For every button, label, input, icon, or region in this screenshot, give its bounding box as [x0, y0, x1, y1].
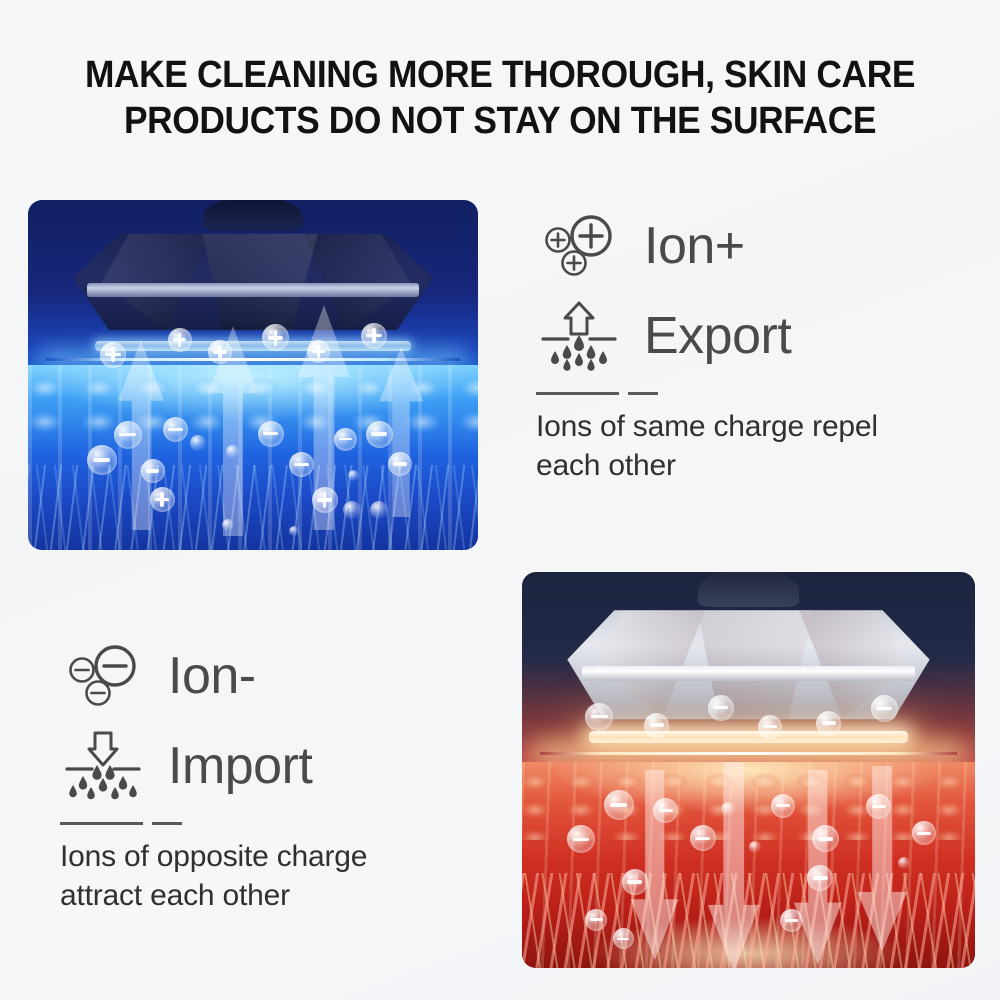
bubble	[348, 470, 359, 481]
ion-marker-negative	[780, 909, 803, 932]
minus-bar	[393, 462, 407, 465]
bubble	[222, 519, 234, 531]
minus-bar	[627, 880, 642, 883]
plus-bar-vertical	[317, 345, 320, 358]
ion-negative-label: Ion-	[168, 650, 256, 702]
bubble	[343, 501, 361, 519]
minus-bar	[93, 458, 110, 462]
red-import-illustration	[522, 572, 975, 968]
ion-marker-negative	[690, 825, 716, 851]
minus-bar	[590, 918, 603, 921]
ion-marker-positive	[361, 323, 387, 349]
bubble	[721, 802, 735, 816]
minus-bar	[813, 876, 828, 879]
divider-segment-long	[536, 392, 619, 395]
plus-bar-vertical	[274, 330, 278, 346]
bubble	[749, 841, 761, 853]
minus-bar	[294, 463, 309, 466]
plus-bar-vertical	[372, 328, 375, 343]
minus-bar	[263, 432, 278, 435]
minus-bar	[119, 433, 135, 437]
minus-bar	[339, 438, 352, 441]
ion-negative-icon	[60, 638, 146, 714]
ion-marker-positive	[208, 340, 232, 364]
export-arrow-up-droplets-icon	[536, 298, 622, 374]
minus-bar	[872, 805, 887, 808]
minus-bar	[650, 723, 665, 726]
minus-bar	[610, 803, 627, 807]
minus-bar	[591, 715, 607, 719]
minus-bar	[168, 428, 183, 431]
divider-segment-long	[60, 822, 143, 825]
export-caption: Ions of same charge repel each other	[536, 407, 966, 485]
ion-marker-negative	[289, 452, 314, 477]
ion-marker-negative	[871, 695, 898, 722]
infographic-page: MAKE CLEANING MORE THOROUGH, SKIN CARE P…	[0, 0, 1000, 1000]
ion-marker-negative	[585, 703, 613, 731]
import-caption: Ions of opposite charge attract each oth…	[60, 837, 490, 915]
export-row: Export	[536, 298, 966, 374]
ion-marker-negative	[866, 794, 891, 819]
bubble	[898, 857, 910, 869]
device-electrode-plate	[589, 731, 908, 743]
minus-bar	[617, 938, 629, 941]
ion-positive-label: Ion+	[644, 220, 745, 272]
plus-bar-vertical	[218, 345, 221, 359]
ion-marker-positive	[168, 328, 192, 352]
feature-block-import: Ion-	[60, 638, 490, 915]
ion-marker-negative	[816, 711, 841, 736]
bubble	[190, 435, 206, 451]
divider	[536, 392, 966, 395]
blue-export-illustration	[28, 200, 478, 550]
minus-bar	[763, 725, 777, 728]
ion-marker-positive	[100, 342, 126, 368]
bubble	[226, 445, 239, 458]
minus-bar	[876, 707, 892, 711]
ion-marker-positive	[150, 487, 175, 512]
plus-bar-vertical	[178, 333, 181, 347]
ion-marker-negative	[141, 459, 165, 483]
ion-positive-row: Ion+	[536, 208, 966, 284]
bubble	[289, 526, 299, 536]
feature-block-export: Ion+	[536, 208, 966, 485]
ion-marker-negative	[644, 713, 669, 738]
device-band	[582, 666, 915, 681]
plus-bar-vertical	[323, 492, 326, 507]
ion-negative-row: Ion-	[60, 638, 490, 714]
minus-bar	[659, 809, 674, 812]
ion-marker-negative	[585, 909, 607, 931]
minus-bar	[917, 832, 931, 835]
ion-marker-negative	[708, 695, 734, 721]
ion-marker-negative	[114, 421, 142, 449]
collagen-fibers	[28, 465, 478, 550]
import-label: Import	[168, 740, 312, 792]
electrode-glow-line	[540, 752, 957, 755]
ion-marker-negative	[87, 445, 117, 475]
bubble	[370, 501, 388, 519]
divider-segment-short	[628, 392, 658, 395]
ion-marker-negative	[334, 428, 357, 451]
minus-bar	[146, 469, 160, 472]
import-row: Import	[60, 728, 490, 804]
ion-marker-negative	[653, 798, 678, 823]
minus-bar	[785, 919, 798, 922]
device-band	[87, 283, 418, 296]
ion-marker-negative	[604, 790, 634, 820]
ion-marker-positive	[312, 487, 338, 513]
ion-marker-negative	[912, 821, 936, 845]
minus-bar	[713, 706, 728, 709]
minus-bar	[573, 838, 589, 842]
minus-bar	[695, 837, 710, 840]
ion-marker-negative	[771, 794, 795, 818]
page-title: MAKE CLEANING MORE THOROUGH, SKIN CARE P…	[35, 52, 965, 144]
ion-marker-negative	[622, 869, 648, 895]
ion-marker-negative	[366, 421, 393, 448]
ion-marker-negative	[388, 452, 412, 476]
minus-bar	[776, 804, 790, 807]
divider	[60, 822, 490, 825]
ion-positive-icon	[536, 208, 622, 284]
minus-bar	[822, 721, 837, 724]
export-label: Export	[644, 310, 791, 362]
ion-marker-positive	[307, 340, 330, 363]
device-stem	[698, 572, 799, 607]
ion-marker-negative	[758, 715, 782, 739]
divider-segment-short	[152, 822, 182, 825]
plus-bar-vertical	[160, 492, 163, 507]
ion-marker-negative	[258, 421, 284, 447]
minus-bar	[818, 837, 834, 841]
device-head-red	[567, 580, 929, 746]
ion-marker-negative	[163, 417, 188, 442]
ion-marker-negative	[613, 928, 634, 949]
minus-bar	[371, 432, 387, 436]
plus-bar-vertical	[111, 347, 114, 362]
import-arrow-down-droplets-icon	[60, 728, 146, 804]
device-stem	[203, 200, 304, 231]
